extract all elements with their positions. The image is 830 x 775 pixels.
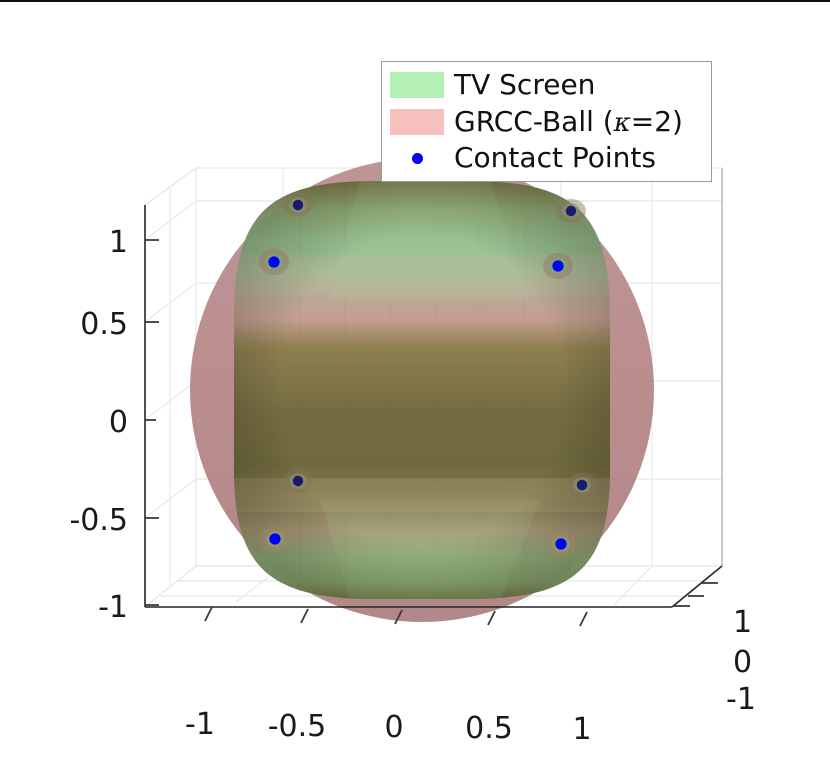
legend-label-contact-points: Contact Points bbox=[454, 144, 656, 172]
x-tick-label: 0 bbox=[384, 710, 403, 745]
blue-dot-icon bbox=[412, 153, 423, 164]
z-tick-label: 0 bbox=[109, 405, 128, 440]
contact-point bbox=[546, 531, 576, 557]
z-tick-label: 1 bbox=[109, 225, 128, 260]
y-tick-label: 0 bbox=[733, 645, 752, 680]
contact-point bbox=[283, 193, 313, 217]
legend-label-grcc-prefix: GRCC-Ball ( bbox=[454, 105, 614, 138]
legend-label-grcc-suffix: =2) bbox=[631, 105, 683, 138]
x-tick-label: -0.5 bbox=[268, 709, 327, 744]
contact-point bbox=[259, 249, 289, 275]
contact-point bbox=[283, 469, 313, 493]
contact-point bbox=[567, 473, 597, 497]
z-axis-tick-labels: 1 0.5 0 -0.5 -1 bbox=[69, 225, 128, 625]
contact-point bbox=[543, 253, 573, 279]
legend-swatch-container bbox=[390, 145, 444, 171]
pink-patch-icon bbox=[390, 109, 444, 135]
contact-point bbox=[260, 526, 290, 552]
y-tick-label: -1 bbox=[726, 682, 756, 717]
y-axis-tick-labels: 1 0 -1 bbox=[726, 605, 756, 717]
x-tick-label: 1 bbox=[572, 712, 591, 747]
legend-label-tv-screen: TV Screen bbox=[454, 71, 595, 99]
legend-label-grcc-ball: GRCC-Ball (κ=2) bbox=[454, 108, 683, 136]
x-tick-label: -1 bbox=[185, 707, 215, 742]
figure-canvas: 1 0.5 0 -0.5 -1 -1 -0.5 0 0.5 1 1 0 -1 T… bbox=[0, 0, 830, 775]
legend-swatch-container bbox=[390, 72, 444, 98]
y-tick-label: 1 bbox=[733, 605, 752, 640]
legend-entry-tv-screen[interactable]: TV Screen bbox=[390, 68, 701, 102]
x-axis-tick-labels: -1 -0.5 0 0.5 1 bbox=[185, 707, 592, 747]
legend-entry-contact-points[interactable]: Contact Points bbox=[390, 141, 701, 175]
plot-legend[interactable]: TV Screen GRCC-Ball (κ=2) Contact Points bbox=[381, 61, 712, 182]
legend-swatch-container bbox=[390, 109, 444, 135]
z-tick-label: 0.5 bbox=[80, 307, 128, 342]
green-patch-icon bbox=[390, 72, 444, 98]
x-tick-label: 0.5 bbox=[465, 711, 513, 746]
z-tick-label: -1 bbox=[98, 590, 128, 625]
z-tick-label: -0.5 bbox=[69, 503, 128, 538]
contact-point bbox=[556, 199, 586, 223]
legend-entry-grcc-ball[interactable]: GRCC-Ball (κ=2) bbox=[390, 105, 701, 139]
kappa-symbol: κ bbox=[614, 108, 631, 138]
